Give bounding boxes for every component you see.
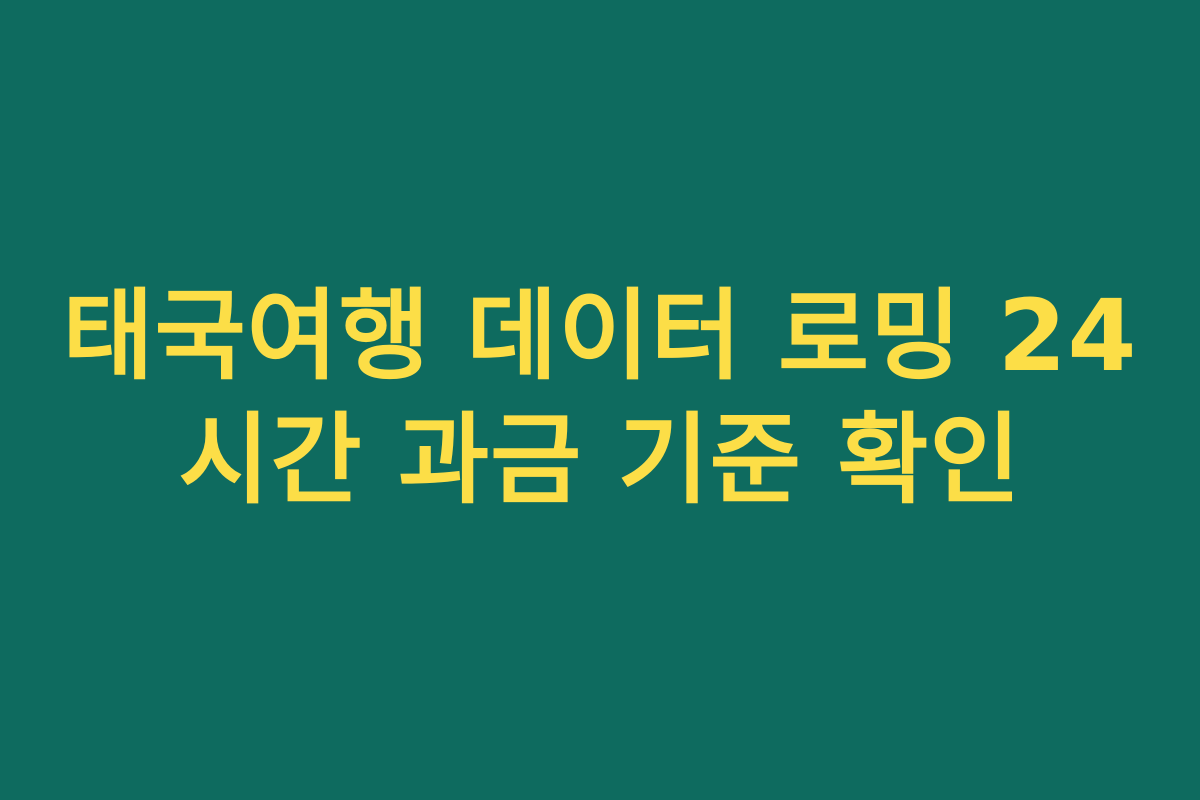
headline-line-2: 시간 과금 기준 확인: [40, 399, 1160, 523]
banner-canvas: 태국여행 데이터 로밍 24 시간 과금 기준 확인: [0, 0, 1200, 800]
headline-line-1: 태국여행 데이터 로밍 24: [40, 275, 1160, 399]
headline-block: 태국여행 데이터 로밍 24 시간 과금 기준 확인: [40, 275, 1160, 523]
